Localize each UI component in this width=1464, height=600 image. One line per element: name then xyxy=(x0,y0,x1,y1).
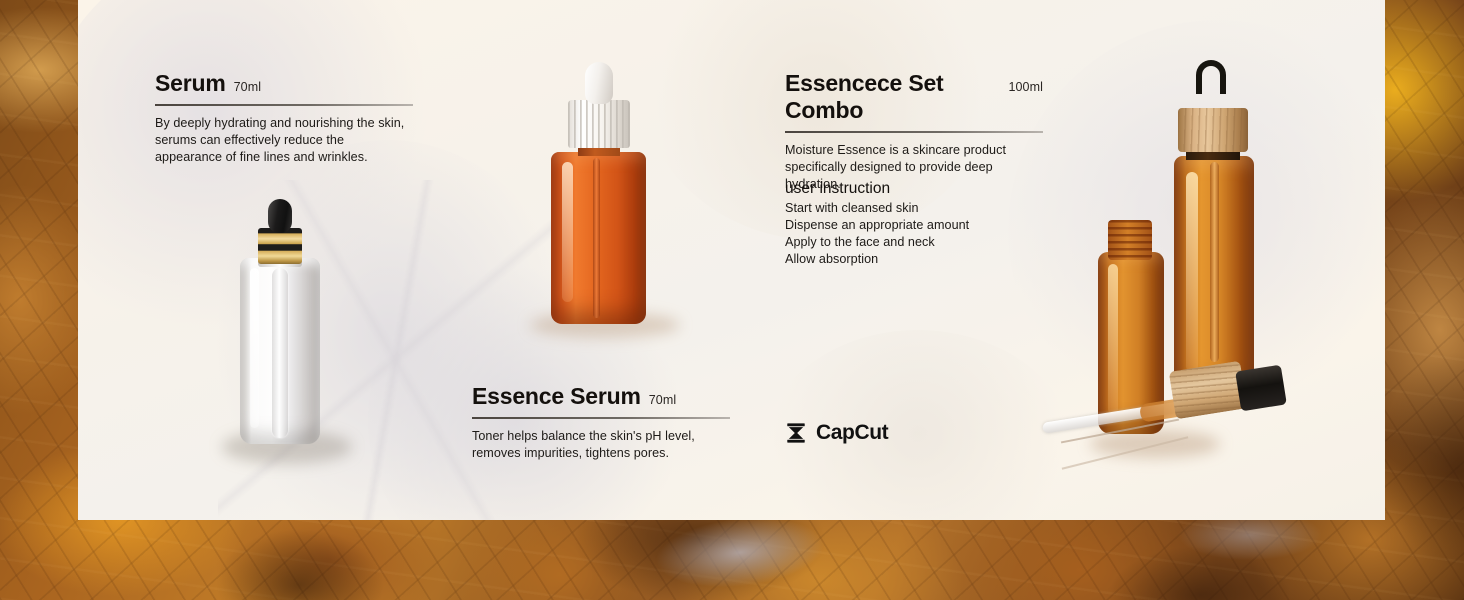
wooden-cap xyxy=(1178,108,1248,152)
serum-title: Serum xyxy=(155,70,226,97)
bottle-highlight xyxy=(562,162,573,302)
combo-title: Essencece Set Combo xyxy=(785,70,1000,124)
panel-serum: Serum 70ml By deeply hydrating and nouri… xyxy=(155,70,413,166)
essence-serum-divider xyxy=(472,417,730,419)
bottle-pipette xyxy=(1210,162,1219,362)
capcut-wordmark: CapCut xyxy=(816,421,888,445)
combo-heading-row: Essencece Set Combo 100ml xyxy=(785,70,1043,124)
instruction-item: Allow absorption xyxy=(785,251,1045,268)
serum-divider xyxy=(155,104,413,106)
essence-serum-title: Essence Serum xyxy=(472,383,641,410)
user-instruction-block: user instruction Start with cleansed ski… xyxy=(785,180,1045,269)
instruction-item: Apply to the face and neck xyxy=(785,234,1045,251)
poster-canvas: Serum 70ml By deeply hydrating and nouri… xyxy=(0,0,1464,600)
essence-serum-volume: 70ml xyxy=(649,393,677,407)
serum-description: By deeply hydrating and nourishing the s… xyxy=(155,115,407,166)
bottle-threaded-neck xyxy=(1108,220,1152,260)
bottle-highlight xyxy=(250,268,259,428)
instruction-item: Start with cleansed skin xyxy=(785,200,1045,217)
dropper-bulb xyxy=(1196,60,1226,94)
panel-essence-serum: Essence Serum 70ml Toner helps balance t… xyxy=(472,383,730,462)
capcut-logo[interactable]: CapCut xyxy=(785,421,888,445)
dropper-bulb xyxy=(268,199,292,233)
essence-serum-description: Toner helps balance the skin's pH level,… xyxy=(472,428,727,462)
dropper-bulb xyxy=(1235,365,1287,412)
panel-essencece-set-combo: Essencece Set Combo 100ml Moisture Essen… xyxy=(785,70,1043,193)
instruction-item: Dispense an appropriate amount xyxy=(785,217,1045,234)
bottle-highlight xyxy=(1108,264,1118,414)
capcut-logo-icon xyxy=(785,422,807,444)
dropper-bulb xyxy=(585,62,613,104)
serum-volume: 70ml xyxy=(234,80,262,94)
essence-serum-heading-row: Essence Serum 70ml xyxy=(472,383,730,410)
serum-heading-row: Serum 70ml xyxy=(155,70,413,97)
instructions-title: user instruction xyxy=(785,180,1045,198)
combo-volume: 100ml xyxy=(1008,80,1043,94)
bottle-cap xyxy=(568,100,630,148)
bottle-highlight xyxy=(1186,172,1198,372)
bottle-pipette xyxy=(272,268,288,438)
bottle-pipette xyxy=(593,158,600,318)
combo-divider xyxy=(785,131,1043,133)
bottle-collar xyxy=(258,228,302,264)
